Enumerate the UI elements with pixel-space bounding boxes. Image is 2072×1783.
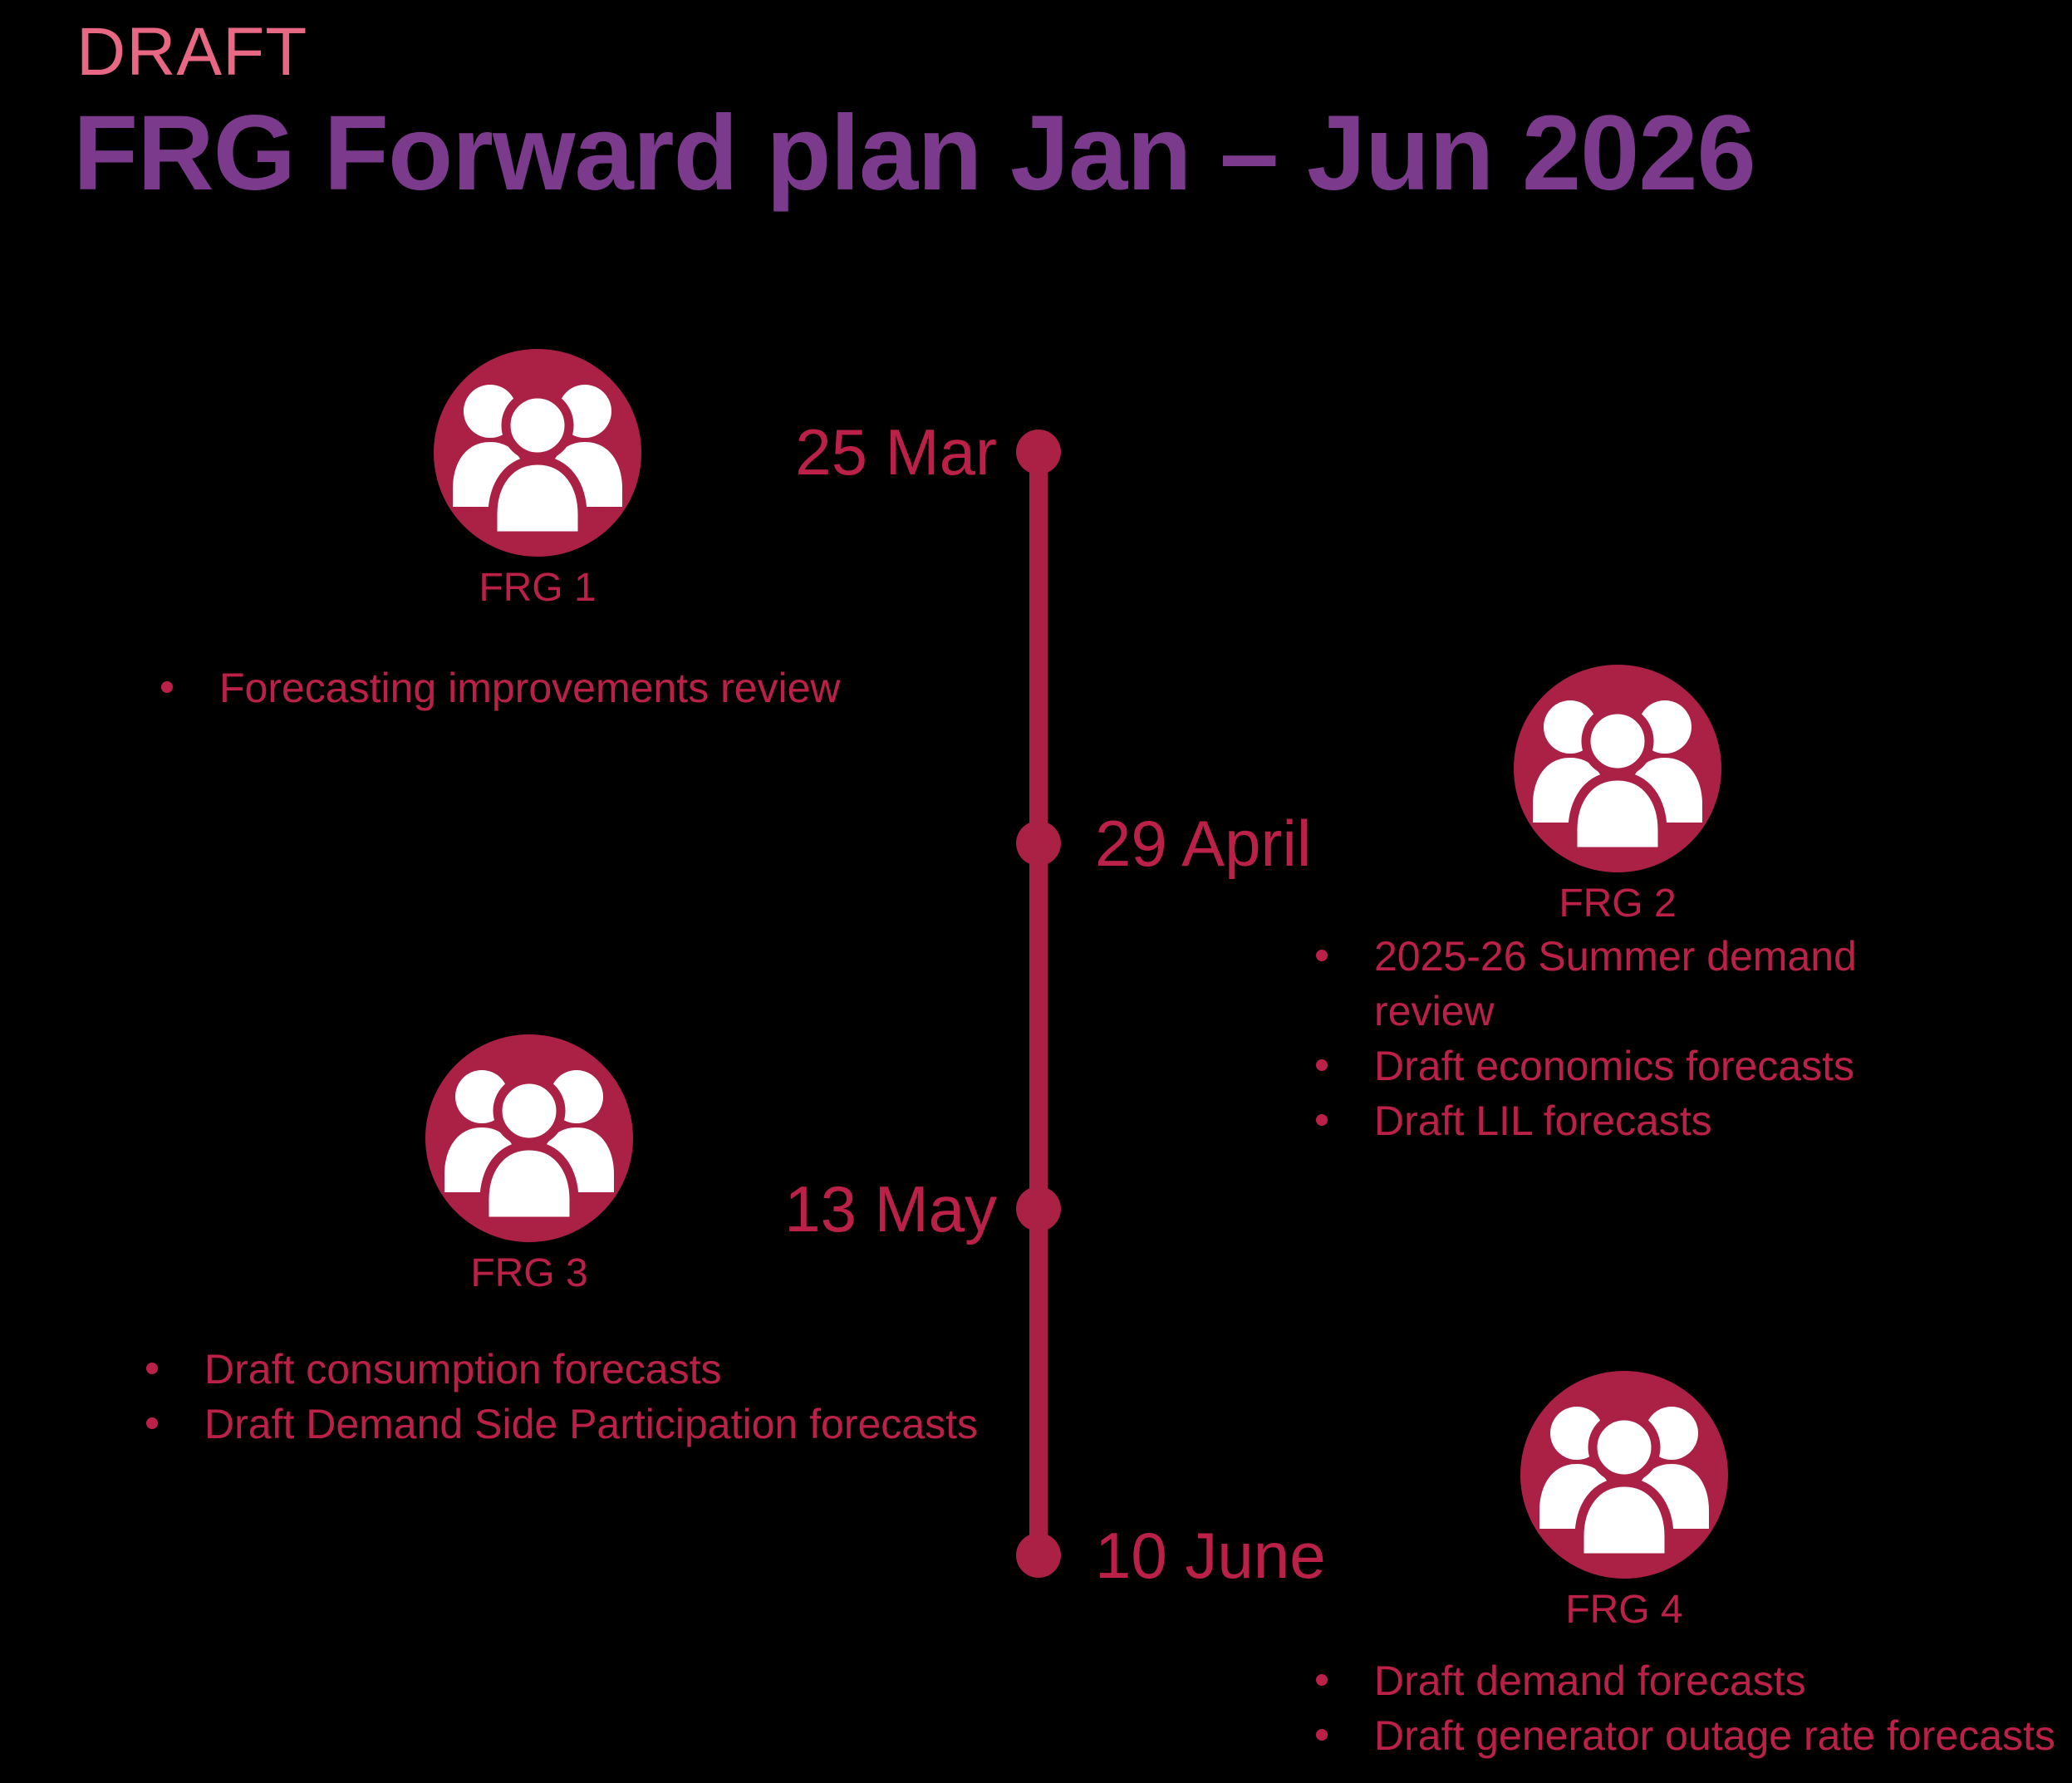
bullet-text: Draft demand forecasts	[1374, 1658, 1806, 1704]
list-item: Draft generator outage rate forecasts	[1309, 1708, 2072, 1763]
list-item: Draft LIL forecasts	[1309, 1093, 1858, 1148]
page-title: FRG Forward plan Jan – Jun 2026	[73, 98, 1755, 209]
bullet-dot-icon	[1316, 1674, 1328, 1686]
bullet-text: 2025-26 Summer demand review	[1374, 933, 1857, 1034]
frg-1-caption: FRG 1	[434, 567, 641, 611]
people-group-icon	[425, 1034, 633, 1242]
bullet-text: Forecasting improvements review	[219, 665, 841, 711]
list-item: Draft Demand Side Participation forecast…	[140, 1397, 1020, 1451]
timeline-dot-13-may[interactable]	[1016, 1186, 1061, 1231]
frg-3-block: FRG 3	[425, 1034, 633, 1296]
people-group-glyph	[1520, 1371, 1728, 1579]
bullet-dot-icon	[1316, 1059, 1328, 1071]
people-group-glyph	[1514, 665, 1721, 872]
bullet-text: Draft generator outage rate forecasts	[1374, 1712, 2055, 1759]
bullet-dot-icon	[1316, 1729, 1328, 1741]
frg-4-block: FRG 4	[1520, 1371, 1728, 1633]
frg-4-caption: FRG 4	[1520, 1589, 1728, 1633]
people-group-glyph	[425, 1034, 633, 1242]
date-label-10-june: 10 June	[1095, 1523, 1326, 1588]
frg-3-bullet-list: Draft consumption forecasts Draft Demand…	[140, 1342, 1020, 1451]
frg-3-caption: FRG 3	[425, 1252, 633, 1296]
list-item: Forecasting improvements review	[155, 661, 969, 715]
timeline-dot-25-mar[interactable]	[1016, 430, 1061, 474]
bullet-dot-icon	[146, 1417, 158, 1429]
frg-2-bullet-list: 2025-26 Summer demand review Draft econo…	[1309, 929, 1858, 1148]
slide-canvas: DRAFT FRG Forward plan Jan – Jun 2026 25…	[0, 0, 2072, 1783]
frg-2-caption: FRG 2	[1514, 882, 1721, 926]
bullet-text: Draft economics forecasts	[1374, 1043, 1854, 1089]
people-group-icon	[1514, 665, 1721, 872]
draft-label: DRAFT	[76, 18, 307, 86]
list-item: Draft consumption forecasts	[140, 1342, 1020, 1397]
bullet-dot-icon	[1316, 950, 1328, 961]
people-group-glyph	[434, 349, 641, 557]
bullet-dot-icon	[161, 681, 173, 693]
frg-2-block: FRG 2	[1514, 665, 1721, 926]
list-item: Draft economics forecasts	[1309, 1039, 1858, 1093]
frg-4-bullet-list: Draft demand forecasts Draft generator o…	[1309, 1653, 2072, 1763]
bullet-text: Draft Demand Side Participation forecast…	[204, 1401, 978, 1447]
bullet-dot-icon	[1316, 1114, 1328, 1126]
bullet-text: Draft LIL forecasts	[1374, 1098, 1712, 1144]
people-group-icon	[1520, 1371, 1728, 1579]
people-group-icon	[434, 349, 641, 557]
list-item: 2025-26 Summer demand review	[1309, 929, 1858, 1039]
bullet-text: Draft consumption forecasts	[204, 1346, 722, 1393]
bullet-dot-icon	[146, 1363, 158, 1374]
frg-1-block: FRG 1	[434, 349, 641, 611]
list-item: Draft demand forecasts	[1309, 1653, 2072, 1708]
date-label-29-april: 29 April	[1095, 811, 1311, 876]
timeline-dot-29-april[interactable]	[1016, 821, 1061, 866]
timeline-dot-10-june[interactable]	[1016, 1533, 1061, 1578]
frg-1-bullet-list: Forecasting improvements review	[155, 661, 969, 715]
timeline-axis	[1029, 452, 1048, 1557]
